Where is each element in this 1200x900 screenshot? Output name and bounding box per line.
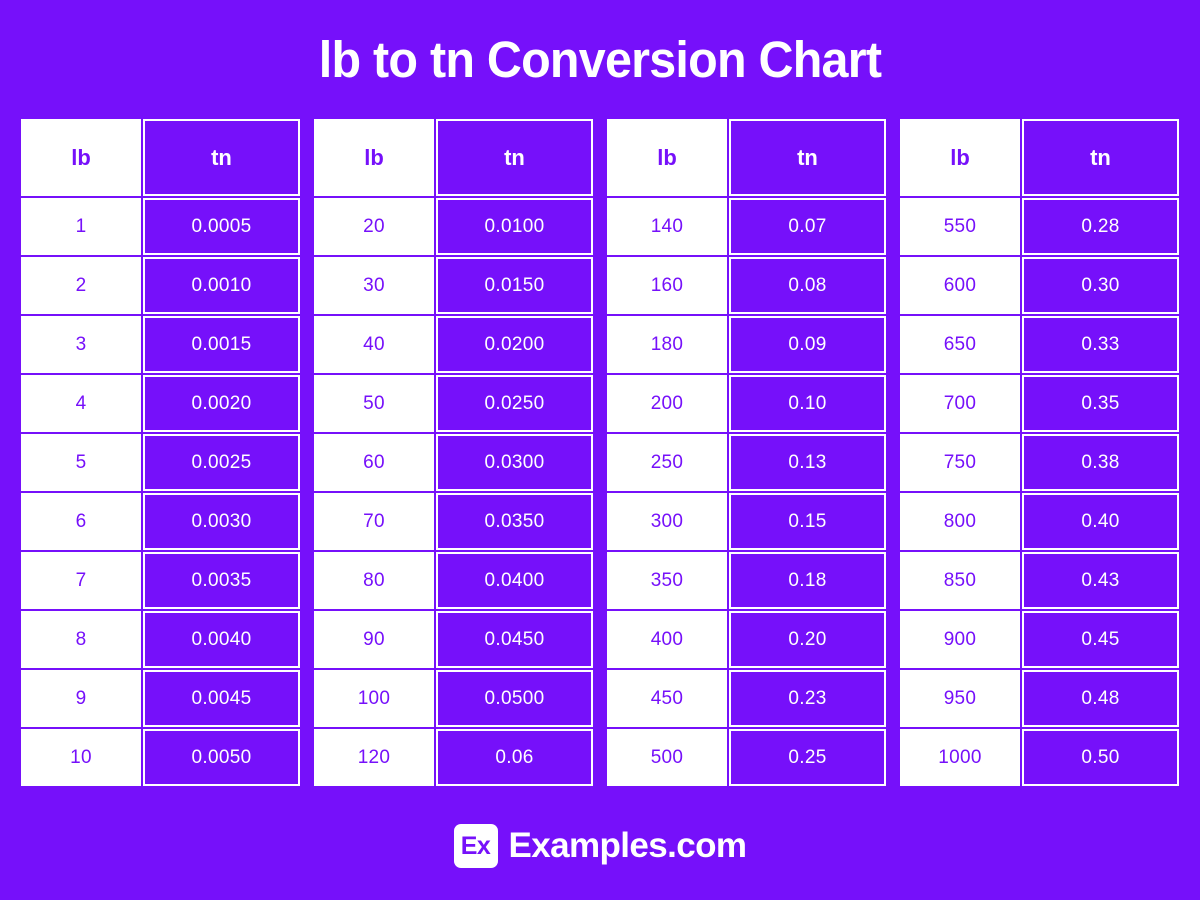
cell-lb-value: 250 (607, 434, 727, 491)
column-header-lb: lb (900, 119, 1020, 196)
cell-lb-value: 120 (314, 729, 434, 786)
column-lb: lb140160180200250300350400450500 (607, 119, 727, 786)
cell-tn-value: 0.43 (1022, 552, 1179, 609)
cell-lb-value: 3 (21, 316, 141, 373)
cell-lb-value: 300 (607, 493, 727, 550)
conversion-table: lb140160180200250300350400450500tn0.070.… (607, 119, 886, 786)
cell-lb-value: 7 (21, 552, 141, 609)
cell-lb-value: 6 (21, 493, 141, 550)
cell-tn-value: 0.30 (1022, 257, 1179, 314)
cell-tn-value: 0.23 (729, 670, 886, 727)
cell-tn-value: 0.0250 (436, 375, 593, 432)
cell-lb-value: 5 (21, 434, 141, 491)
cell-tn-value: 0.0015 (143, 316, 300, 373)
cell-tn-value: 0.0020 (143, 375, 300, 432)
cell-tn-value: 0.0030 (143, 493, 300, 550)
cell-tn-value: 0.33 (1022, 316, 1179, 373)
cell-tn-value: 0.38 (1022, 434, 1179, 491)
cell-lb-value: 100 (314, 670, 434, 727)
cell-tn-value: 0.45 (1022, 611, 1179, 668)
cell-lb-value: 50 (314, 375, 434, 432)
cell-lb-value: 450 (607, 670, 727, 727)
cell-tn-value: 0.0350 (436, 493, 593, 550)
conversion-table: lb2030405060708090100120tn0.01000.01500.… (314, 119, 593, 786)
column-lb: lb2030405060708090100120 (314, 119, 434, 786)
column-header-lb: lb (21, 119, 141, 196)
column-header-lb: lb (314, 119, 434, 196)
cell-tn-value: 0.0025 (143, 434, 300, 491)
cell-lb-value: 10 (21, 729, 141, 786)
cell-tn-value: 0.48 (1022, 670, 1179, 727)
cell-lb-value: 2 (21, 257, 141, 314)
cell-lb-value: 8 (21, 611, 141, 668)
column-tn: tn0.070.080.090.100.130.150.180.200.230.… (729, 119, 886, 786)
cell-tn-value: 0.20 (729, 611, 886, 668)
cell-tn-value: 0.0500 (436, 670, 593, 727)
cell-lb-value: 20 (314, 198, 434, 255)
cell-lb-value: 140 (607, 198, 727, 255)
cell-lb-value: 500 (607, 729, 727, 786)
cell-tn-value: 0.28 (1022, 198, 1179, 255)
cell-lb-value: 550 (900, 198, 1020, 255)
cell-lb-value: 60 (314, 434, 434, 491)
cell-lb-value: 900 (900, 611, 1020, 668)
column-header-tn: tn (436, 119, 593, 196)
cell-lb-value: 40 (314, 316, 434, 373)
cell-lb-value: 850 (900, 552, 1020, 609)
conversion-tables-container: lb12345678910tn0.00050.00100.00150.00200… (18, 119, 1182, 786)
cell-lb-value: 160 (607, 257, 727, 314)
column-tn: tn0.280.300.330.350.380.400.430.450.480.… (1022, 119, 1179, 786)
cell-lb-value: 4 (21, 375, 141, 432)
column-header-tn: tn (1022, 119, 1179, 196)
examples-logo-icon: Ex (454, 824, 498, 868)
column-header-tn: tn (729, 119, 886, 196)
cell-tn-value: 0.0010 (143, 257, 300, 314)
cell-tn-value: 0.15 (729, 493, 886, 550)
cell-tn-value: 0.13 (729, 434, 886, 491)
cell-tn-value: 0.40 (1022, 493, 1179, 550)
column-header-lb: lb (607, 119, 727, 196)
cell-tn-value: 0.06 (436, 729, 593, 786)
cell-lb-value: 750 (900, 434, 1020, 491)
cell-lb-value: 180 (607, 316, 727, 373)
cell-tn-value: 0.0100 (436, 198, 593, 255)
cell-tn-value: 0.0400 (436, 552, 593, 609)
cell-lb-value: 600 (900, 257, 1020, 314)
brand-name: Examples.com (509, 826, 747, 866)
cell-lb-value: 9 (21, 670, 141, 727)
cell-tn-value: 0.0150 (436, 257, 593, 314)
cell-lb-value: 650 (900, 316, 1020, 373)
cell-tn-value: 0.0450 (436, 611, 593, 668)
cell-tn-value: 0.08 (729, 257, 886, 314)
cell-lb-value: 950 (900, 670, 1020, 727)
cell-lb-value: 80 (314, 552, 434, 609)
cell-tn-value: 0.0005 (143, 198, 300, 255)
page-title: lb to tn Conversion Chart (319, 32, 881, 88)
cell-tn-value: 0.0050 (143, 729, 300, 786)
cell-lb-value: 200 (607, 375, 727, 432)
column-lb: lb5506006507007508008509009501000 (900, 119, 1020, 786)
cell-tn-value: 0.0300 (436, 434, 593, 491)
cell-lb-value: 400 (607, 611, 727, 668)
column-tn: tn0.01000.01500.02000.02500.03000.03500.… (436, 119, 593, 786)
column-header-tn: tn (143, 119, 300, 196)
column-lb: lb12345678910 (21, 119, 141, 786)
cell-tn-value: 0.35 (1022, 375, 1179, 432)
conversion-chart-page: lb to tn Conversion Chart lb12345678910t… (0, 0, 1200, 900)
cell-lb-value: 70 (314, 493, 434, 550)
cell-tn-value: 0.0035 (143, 552, 300, 609)
cell-lb-value: 90 (314, 611, 434, 668)
cell-tn-value: 0.50 (1022, 729, 1179, 786)
cell-lb-value: 1 (21, 198, 141, 255)
cell-tn-value: 0.0200 (436, 316, 593, 373)
conversion-table: lb12345678910tn0.00050.00100.00150.00200… (21, 119, 300, 786)
cell-tn-value: 0.10 (729, 375, 886, 432)
cell-tn-value: 0.18 (729, 552, 886, 609)
cell-tn-value: 0.0045 (143, 670, 300, 727)
cell-lb-value: 30 (314, 257, 434, 314)
conversion-table: lb5506006507007508008509009501000tn0.280… (900, 119, 1179, 786)
cell-lb-value: 350 (607, 552, 727, 609)
footer-branding: Ex Examples.com (0, 824, 1200, 868)
cell-tn-value: 0.0040 (143, 611, 300, 668)
cell-lb-value: 700 (900, 375, 1020, 432)
column-tn: tn0.00050.00100.00150.00200.00250.00300.… (143, 119, 300, 786)
cell-tn-value: 0.25 (729, 729, 886, 786)
cell-tn-value: 0.09 (729, 316, 886, 373)
cell-tn-value: 0.07 (729, 198, 886, 255)
cell-lb-value: 800 (900, 493, 1020, 550)
cell-lb-value: 1000 (900, 729, 1020, 786)
